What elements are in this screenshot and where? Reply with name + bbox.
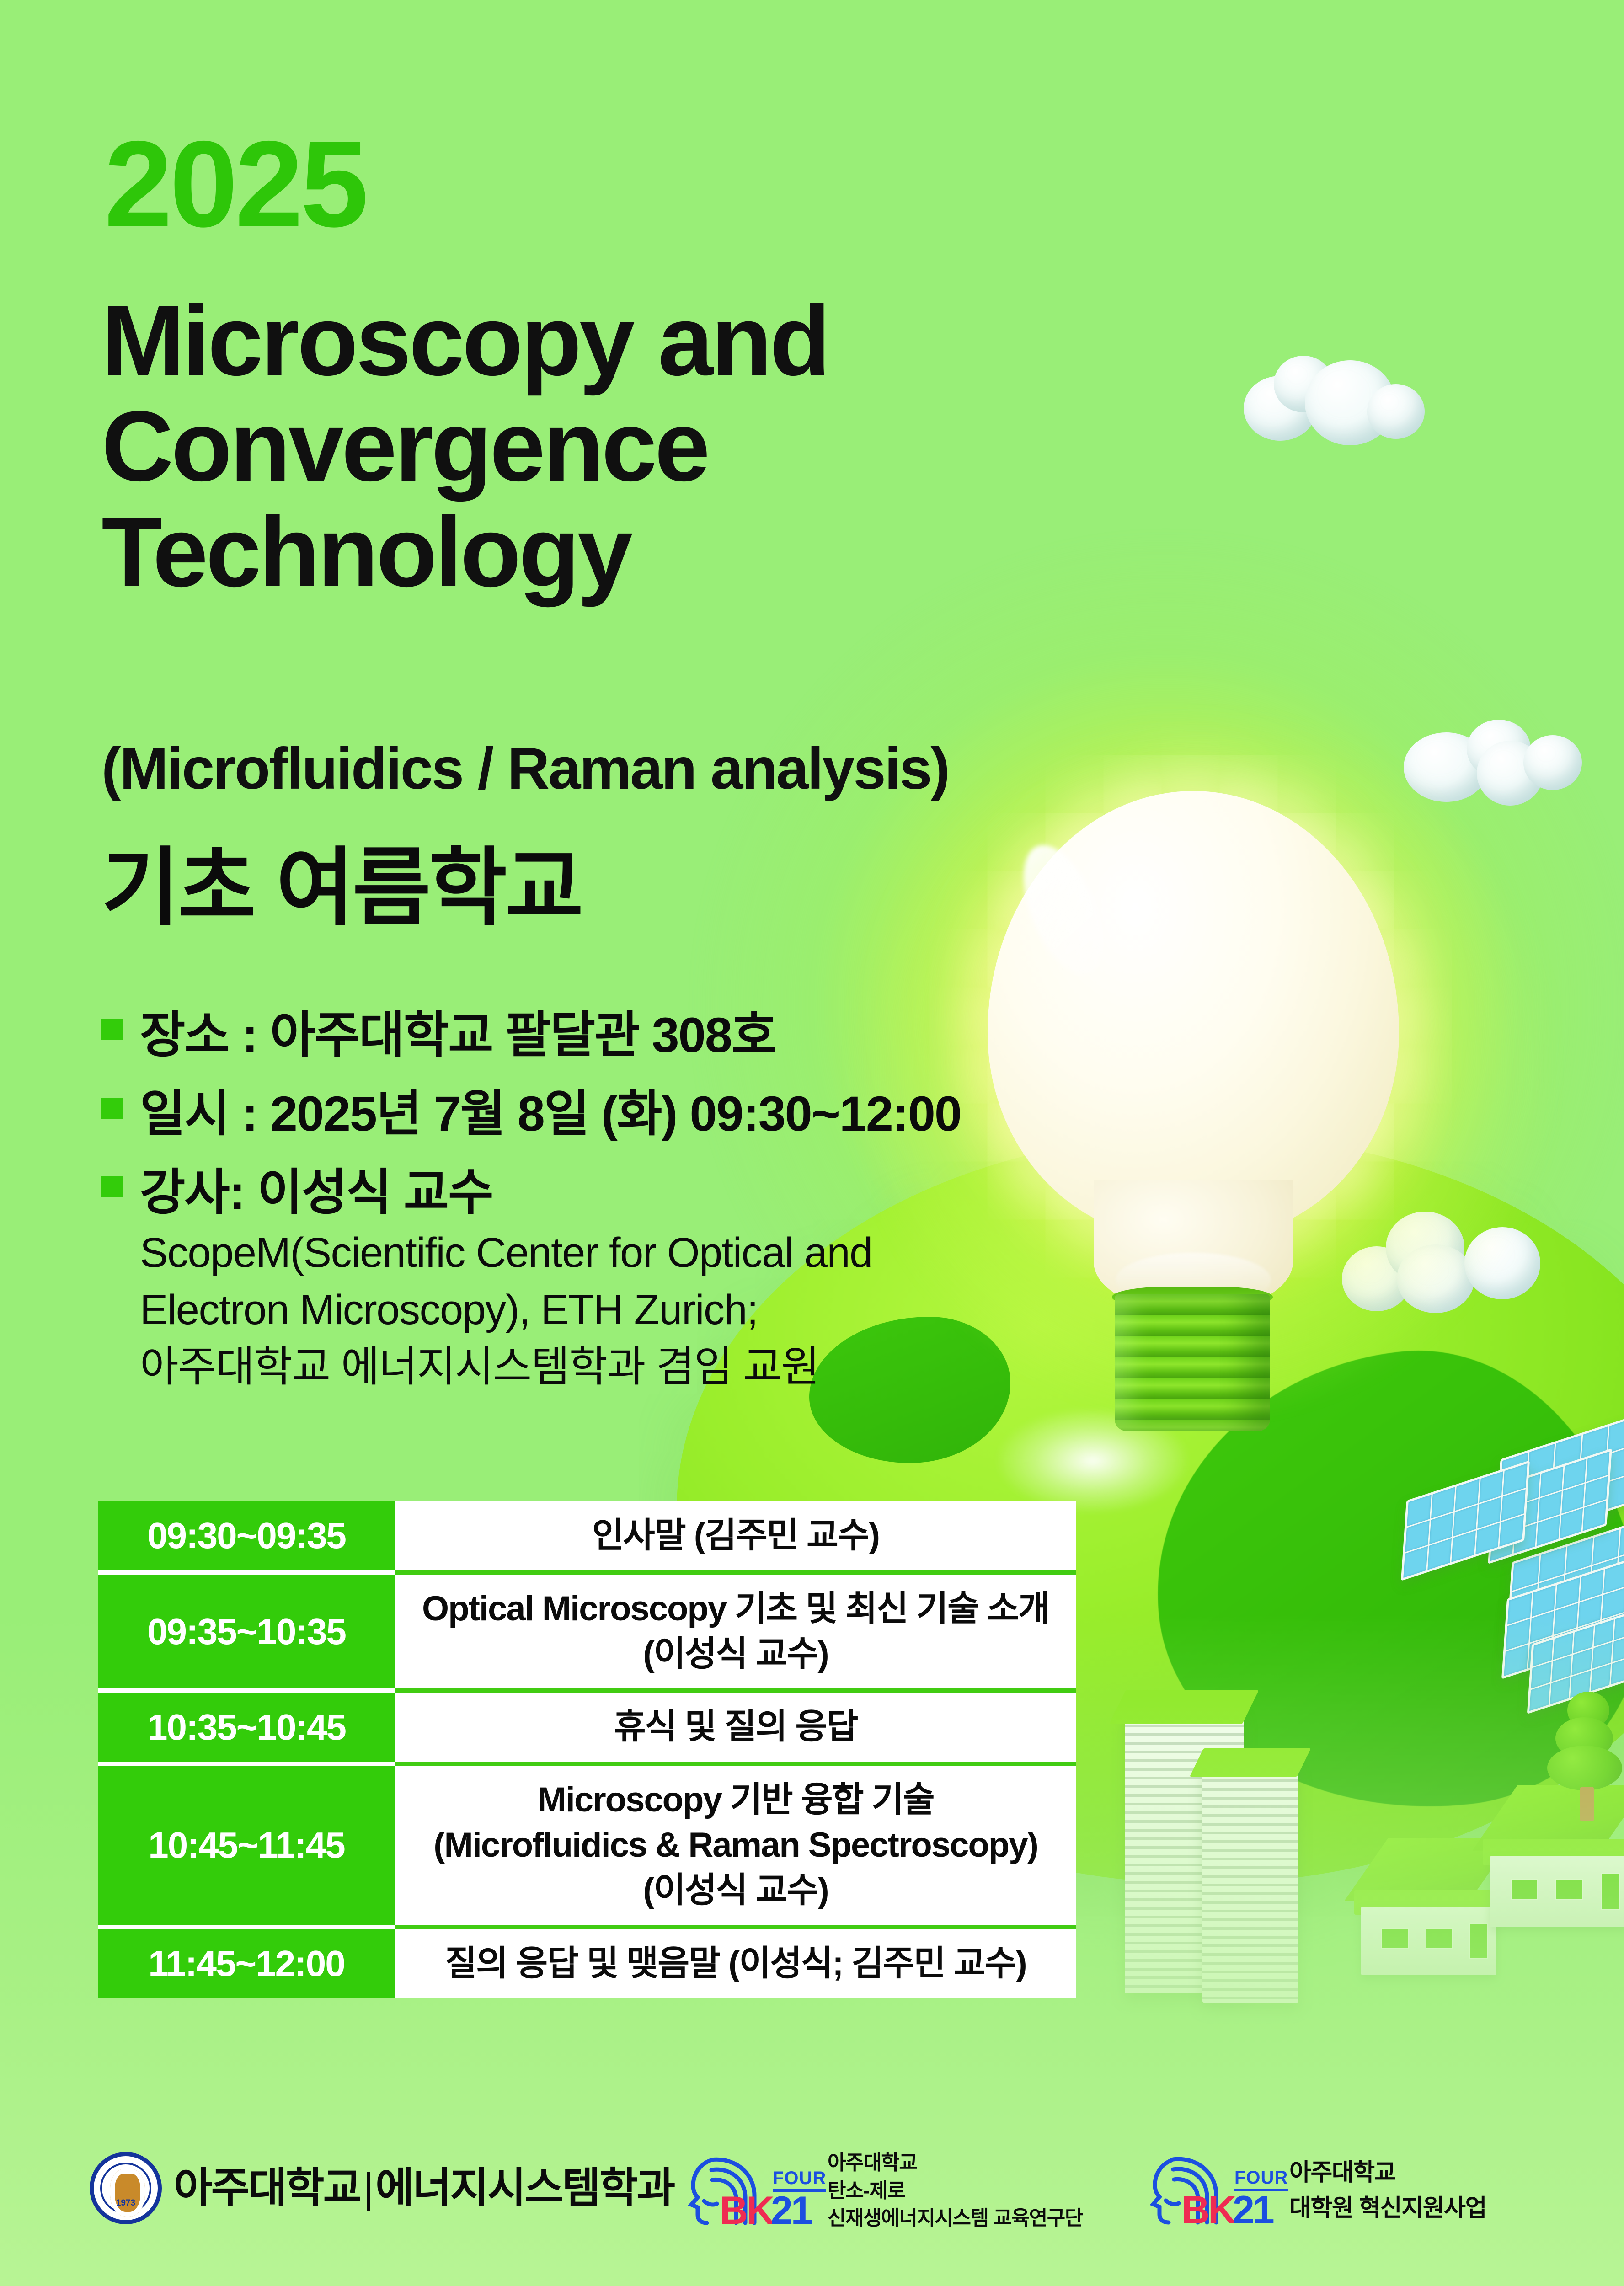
schedule-desc-line: Microscopy 기반 융합 기술 (403, 1778, 1068, 1823)
poster-title-english: Microscopy and Convergence Technology (101, 288, 828, 605)
schedule-desc-cell: Microscopy 기반 융합 기술 (Microfluidics & Ram… (395, 1766, 1076, 1929)
info-speaker-affiliation-line-1: ScopeM(Scientific Center for Optical and (140, 1224, 1104, 1282)
title-line-2: Convergence (101, 394, 828, 499)
bk21-caption: 아주대학교 대학원 혁신지원사업 (1289, 2155, 1486, 2226)
schedule-time-cell: 10:35~10:45 (98, 1693, 395, 1766)
bk21-caption: 아주대학교 탄소-제로 신재생에너지시스템 교육연구단 (828, 2149, 1083, 2233)
schedule-time-cell: 11:45~12:00 (98, 1929, 395, 1998)
bk21-mark: FOUR BK 21 (686, 2150, 823, 2232)
schedule-desc-cell: 인사말 (김주민 교수) (395, 1501, 1076, 1575)
table-row: 10:35~10:45 휴식 및 질의 응답 (98, 1693, 1076, 1766)
schedule-desc-line: (Microfluidics & Raman Spectroscopy) (403, 1823, 1068, 1868)
info-row-place: 장소 : 아주대학교 팔달관 308호 (98, 1004, 1104, 1067)
info-speaker-text: 강사: 이성식 교수 (140, 1161, 1104, 1224)
bk21-number-label: 21 (1233, 2190, 1273, 2230)
bk21-caption-line-3: 신재생에너지시스템 교육연구단 (828, 2205, 1083, 2233)
poster-root: 2025 Microscopy and Convergence Technolo… (0, 0, 1624, 2286)
bk21-caption-line-1: 아주대학교 (1289, 2155, 1486, 2190)
table-row: 10:45~11:45 Microscopy 기반 융합 기술 (Microfl… (98, 1766, 1076, 1929)
info-row-speaker: 강사: 이성식 교수 ScopeM(Scientific Center for … (98, 1161, 1104, 1396)
logo-ajou-university: 1973 아주대학교|에너지시스템학과 (90, 2152, 674, 2224)
schedule-time-cell: 10:45~11:45 (98, 1766, 395, 1929)
schedule-desc-line: Optical Microscopy 기초 및 최신 기술 소개 (403, 1586, 1068, 1632)
bk21-caption-line-2: 탄소-제로 (828, 2177, 1083, 2205)
logo-bk21-carbon-zero: FOUR BK 21 아주대학교 탄소-제로 신재생에너지시스템 교육연구단 (686, 2149, 1083, 2233)
logo-bk21-graduate-innovation: FOUR BK 21 아주대학교 대학원 혁신지원사업 (1148, 2149, 1486, 2232)
poster-title-korean: 기초 여름학교 (101, 818, 582, 942)
poster-year: 2025 (104, 123, 366, 245)
schedule-desc-line: 질의 응답 및 맺음말 (이성식; 김주민 교수) (403, 1941, 1068, 1987)
schedule-table: 09:30~09:35 인사말 (김주민 교수) 09:35~10:35 Opt… (98, 1501, 1076, 1998)
table-row: 11:45~12:00 질의 응답 및 맺음말 (이성식; 김주민 교수) (98, 1929, 1076, 1998)
bk21-mark: FOUR BK 21 (1148, 2149, 1285, 2232)
schedule-desc-cell: Optical Microscopy 기초 및 최신 기술 소개 (이성식 교수… (395, 1575, 1076, 1693)
bk21-caption-line-2: 대학원 혁신지원사업 (1289, 2190, 1486, 2226)
info-speaker-affiliation-line-3: 아주대학교 에너지시스템학과 겸임 교원 (140, 1339, 1104, 1396)
schedule-desc-cell: 질의 응답 및 맺음말 (이성식; 김주민 교수) (395, 1929, 1076, 1998)
ajou-seal-year: 1973 (94, 2198, 158, 2208)
ajou-logo-text: 아주대학교|에너지시스템학과 (174, 2167, 674, 2209)
schedule-time-cell: 09:35~10:35 (98, 1575, 395, 1693)
title-line-3: Technology (101, 499, 828, 605)
info-row-datetime: 일시 : 2025년 7월 8일 (화) 09:30~12:00 (98, 1082, 1104, 1145)
schedule-desc-line: (이성식 교수) (403, 1632, 1068, 1677)
bk21-caption-line-1: 아주대학교 (828, 2149, 1083, 2177)
ajou-logo-separator: | (363, 2165, 373, 2211)
ajou-department-name: 에너지시스템학과 (375, 2165, 674, 2211)
bullet-square-icon (101, 1176, 123, 1197)
bk21-number-label: 21 (771, 2191, 811, 2230)
schedule-desc-line: (이성식 교수) (403, 1868, 1068, 1913)
info-datetime-text: 일시 : 2025년 7월 8일 (화) 09:30~12:00 (140, 1082, 1104, 1145)
ajou-seal-icon: 1973 (90, 2152, 162, 2224)
bullet-square-icon (101, 1098, 123, 1119)
info-place-text: 장소 : 아주대학교 팔달관 308호 (140, 1004, 1104, 1067)
table-row: 09:35~10:35 Optical Microscopy 기초 및 최신 기… (98, 1575, 1076, 1693)
schedule-desc-line: 휴식 및 질의 응답 (403, 1704, 1068, 1750)
table-row: 09:30~09:35 인사말 (김주민 교수) (98, 1501, 1076, 1575)
poster-subtitle-english: (Microfluidics / Raman analysis) (101, 735, 949, 802)
footer-logos: 1973 아주대학교|에너지시스템학과 (0, 2141, 1624, 2246)
event-info-list: 장소 : 아주대학교 팔달관 308호 일시 : 2025년 7월 8일 (화)… (98, 1004, 1104, 1411)
bk21-bk-label: BK (720, 2191, 773, 2230)
schedule-desc-cell: 휴식 및 질의 응답 (395, 1693, 1076, 1766)
ajou-seal-emblem (110, 2169, 145, 2217)
schedule-time-cell: 09:30~09:35 (98, 1501, 395, 1575)
title-line-1: Microscopy and (101, 288, 828, 394)
ajou-university-name: 아주대학교 (174, 2165, 360, 2211)
bk21-bk-label: BK (1181, 2190, 1234, 2230)
schedule-desc-line: 인사말 (김주민 교수) (403, 1513, 1068, 1559)
info-speaker-affiliation-line-2: Electron Microscopy), ETH Zurich; (140, 1282, 1104, 1339)
bullet-square-icon (101, 1019, 123, 1040)
